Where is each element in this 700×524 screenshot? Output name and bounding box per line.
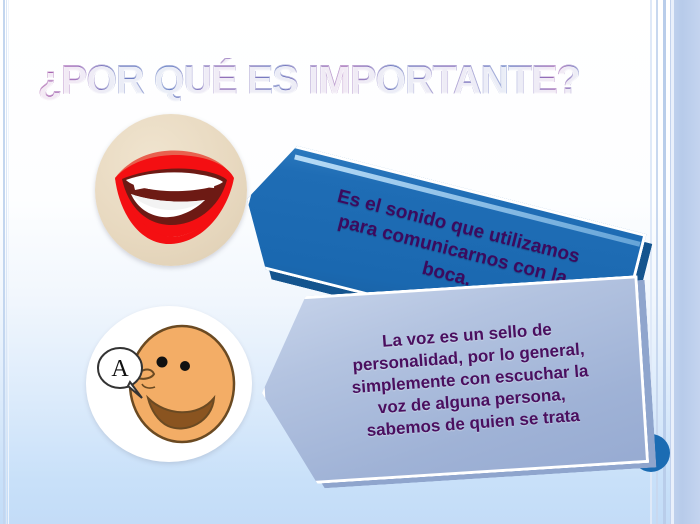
banner-voice-identity: La voz es un sello de personalidad, por … [256,275,649,487]
slide-title: ¿POR QUÉ ES IMPORTANTE? [38,58,580,103]
svg-text:A: A [111,356,129,382]
mouth-icon [95,114,247,266]
left-border-stripe-2 [6,0,7,524]
banner-two-text: La voz es un sello de personalidad, por … [308,313,632,446]
left-border-stripe-1 [3,0,5,524]
talking-face-illustration: A [86,306,252,462]
speech-bubble: A [98,348,142,398]
face-icon: A [86,306,252,462]
left-border-stripe-3 [8,0,9,524]
presentation-slide: ¿POR QUÉ ES IMPORTANTE? [0,0,700,524]
right-border-band [670,0,700,524]
right-border-stripe-0 [671,0,674,524]
smiling-mouth-photo [95,114,247,266]
